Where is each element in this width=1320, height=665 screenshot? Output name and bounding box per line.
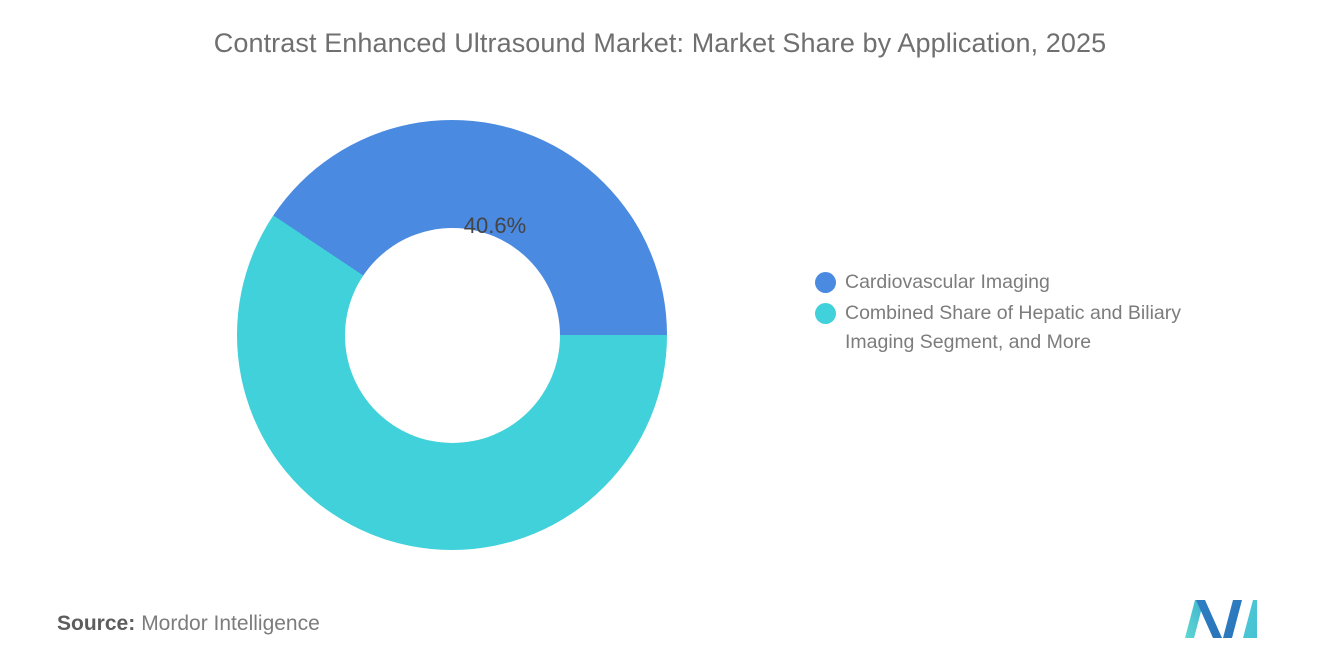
legend-item-combined-share-hepatic-biliary[interactable]: Combined Share of Hepatic and Biliary Im… — [815, 299, 1285, 357]
legend-color-swatch-icon — [815, 303, 836, 324]
source-attribution: Source:Mordor Intelligence — [57, 612, 320, 636]
donut-chart: 40.6% — [237, 120, 667, 550]
chart-legend: Cardiovascular Imaging Combined Share of… — [815, 268, 1285, 359]
legend-item-label: Combined Share of Hepatic and Biliary Im… — [845, 299, 1245, 357]
legend-item-label: Cardiovascular Imaging — [845, 268, 1050, 297]
mordor-intelligence-logo-icon — [1185, 600, 1257, 638]
legend-color-swatch-icon — [815, 272, 836, 293]
source-label: Source: — [57, 612, 135, 635]
legend-item-cardiovascular-imaging[interactable]: Cardiovascular Imaging — [815, 268, 1285, 297]
source-value: Mordor Intelligence — [141, 612, 320, 635]
chart-plot-area: 40.6% — [0, 90, 790, 580]
page-title: Contrast Enhanced Ultrasound Market: Mar… — [0, 28, 1320, 59]
donut-center-hole — [345, 228, 560, 443]
slice-value-label-cardiovascular-imaging: 40.6% — [464, 213, 526, 239]
